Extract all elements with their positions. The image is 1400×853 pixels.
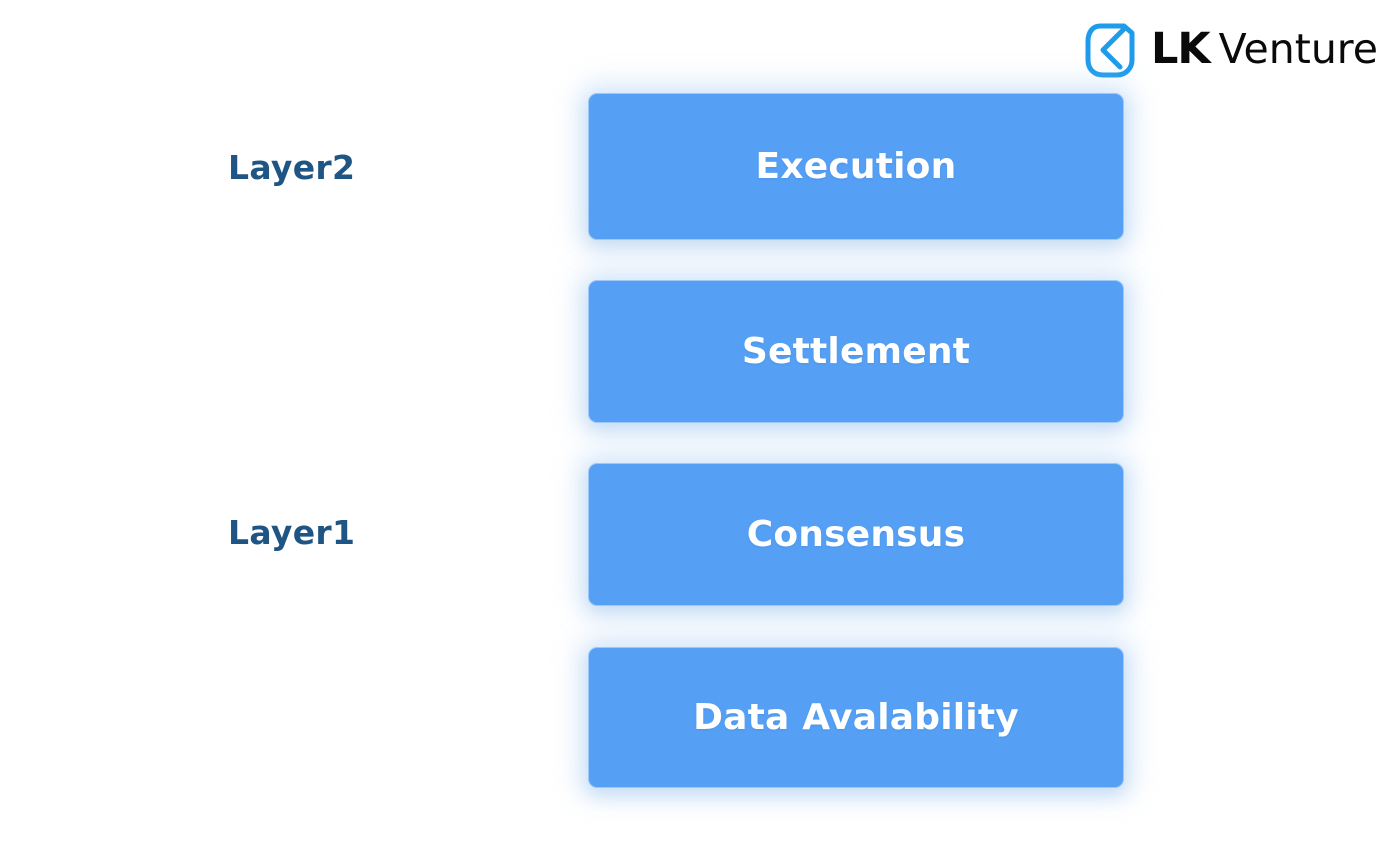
lk-venture-logo-icon (1083, 19, 1139, 79)
layer-box-label: Data Avalability (693, 697, 1019, 738)
side-label-layer1: Layer1 (228, 516, 355, 549)
brand-wordmark: LK Venture (1151, 28, 1378, 71)
side-label-layer2: Layer2 (228, 151, 355, 184)
layer-box-label: Settlement (742, 331, 970, 372)
slide-canvas: LK Venture Layer2 Layer1 Execution Settl… (0, 0, 1400, 853)
layer-box-consensus: Consensus (588, 463, 1124, 606)
layer-box-settlement: Settlement (588, 280, 1124, 423)
brand-logo: LK Venture (1083, 18, 1378, 80)
brand-name-bold: LK (1151, 28, 1210, 71)
layer-box-execution: Execution (588, 93, 1124, 240)
layer-box-data-avalability: Data Avalability (588, 647, 1124, 788)
layer-box-label: Execution (756, 146, 957, 187)
layer-stack: Execution Settlement Consensus Data Aval… (588, 93, 1124, 788)
layer-box-label: Consensus (747, 514, 966, 555)
brand-name-regular: Venture (1219, 29, 1378, 70)
